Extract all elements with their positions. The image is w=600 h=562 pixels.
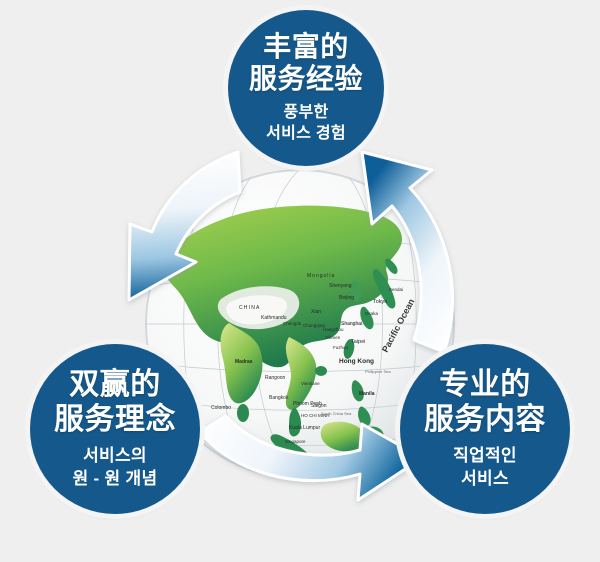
svg-text:South China Sea: South China Sea (321, 411, 352, 416)
diagram-canvas: Pacific Ocean Hong Kong Taipei Tokyo Osa… (0, 0, 600, 562)
svg-text:Madras: Madras (235, 359, 253, 365)
svg-text:Bandung: Bandung (293, 469, 312, 474)
svg-text:Bangkok: Bangkok (269, 395, 289, 401)
svg-text:Rangoon: Rangoon (265, 375, 286, 381)
svg-text:Fuzhou: Fuzhou (333, 345, 349, 350)
bubble-rich-service-experience[interactable]: 丰富的 服务经验 풍부한 서비스 경험 (228, 10, 384, 166)
bubble-top-kr-line1: 풍부한 (283, 103, 328, 124)
svg-text:Davao: Davao (375, 435, 389, 440)
bubble-left-kr-line2: 원 - 원 개념 (73, 468, 158, 490)
svg-text:Shanghai: Shanghai (341, 321, 362, 327)
bubble-left-kr-line1: 서비스의 (83, 445, 147, 467)
svg-text:Manila: Manila (359, 391, 375, 397)
svg-text:Philippine Sea: Philippine Sea (365, 369, 391, 374)
bubble-top-kr-line2: 서비스 경험 (266, 124, 346, 145)
bubble-left-cn-line1: 双赢的 (69, 368, 161, 403)
svg-text:Taipei: Taipei (351, 339, 365, 345)
svg-text:Beijing: Beijing (339, 295, 354, 301)
svg-text:Sendai: Sendai (389, 287, 403, 292)
svg-text:Xian: Xian (311, 309, 321, 315)
svg-text:Xiamen: Xiamen (325, 335, 341, 340)
bubble-professional-service-content[interactable]: 专业的 服务内容 직업적인 서비스 (400, 344, 570, 514)
svg-text:CHINA: CHINA (239, 305, 261, 311)
svg-text:Vientiane: Vientiane (301, 381, 320, 386)
svg-text:Singapore: Singapore (285, 439, 306, 444)
svg-text:Saigon: Saigon (311, 403, 327, 409)
bubble-right-kr-line2: 서비스 (461, 468, 509, 490)
svg-text:Mongolia: Mongolia (307, 273, 335, 279)
svg-text:Colombo: Colombo (211, 405, 231, 411)
svg-text:Chengdu: Chengdu (283, 321, 302, 326)
svg-text:INDONESIA: INDONESIA (325, 453, 359, 458)
bubble-left-cn-line2: 服务理念 (54, 403, 176, 438)
bubble-right-cn-line2: 服务内容 (424, 403, 546, 438)
svg-text:Chongqing: Chongqing (303, 323, 325, 328)
svg-text:Tokyo: Tokyo (373, 299, 387, 305)
svg-text:Hong Kong: Hong Kong (339, 358, 374, 365)
svg-text:Jakarta: Jakarta (319, 459, 337, 465)
bubble-top-cn-line1: 丰富的 (263, 31, 349, 63)
svg-text:Hangzhou: Hangzhou (323, 327, 344, 332)
svg-text:Osaka: Osaka (365, 311, 379, 316)
bubble-right-kr-line1: 직업적인 (453, 445, 517, 467)
bubble-top-cn-line2: 服务经验 (249, 63, 363, 95)
bubble-win-win-service-philosophy[interactable]: 双赢的 服务理念 서비스의 원 - 원 개념 (30, 344, 200, 514)
svg-text:Shenyang: Shenyang (329, 283, 352, 289)
bubble-right-cn-line1: 专业的 (439, 368, 531, 403)
svg-text:Kuala Lumpur: Kuala Lumpur (289, 425, 320, 431)
